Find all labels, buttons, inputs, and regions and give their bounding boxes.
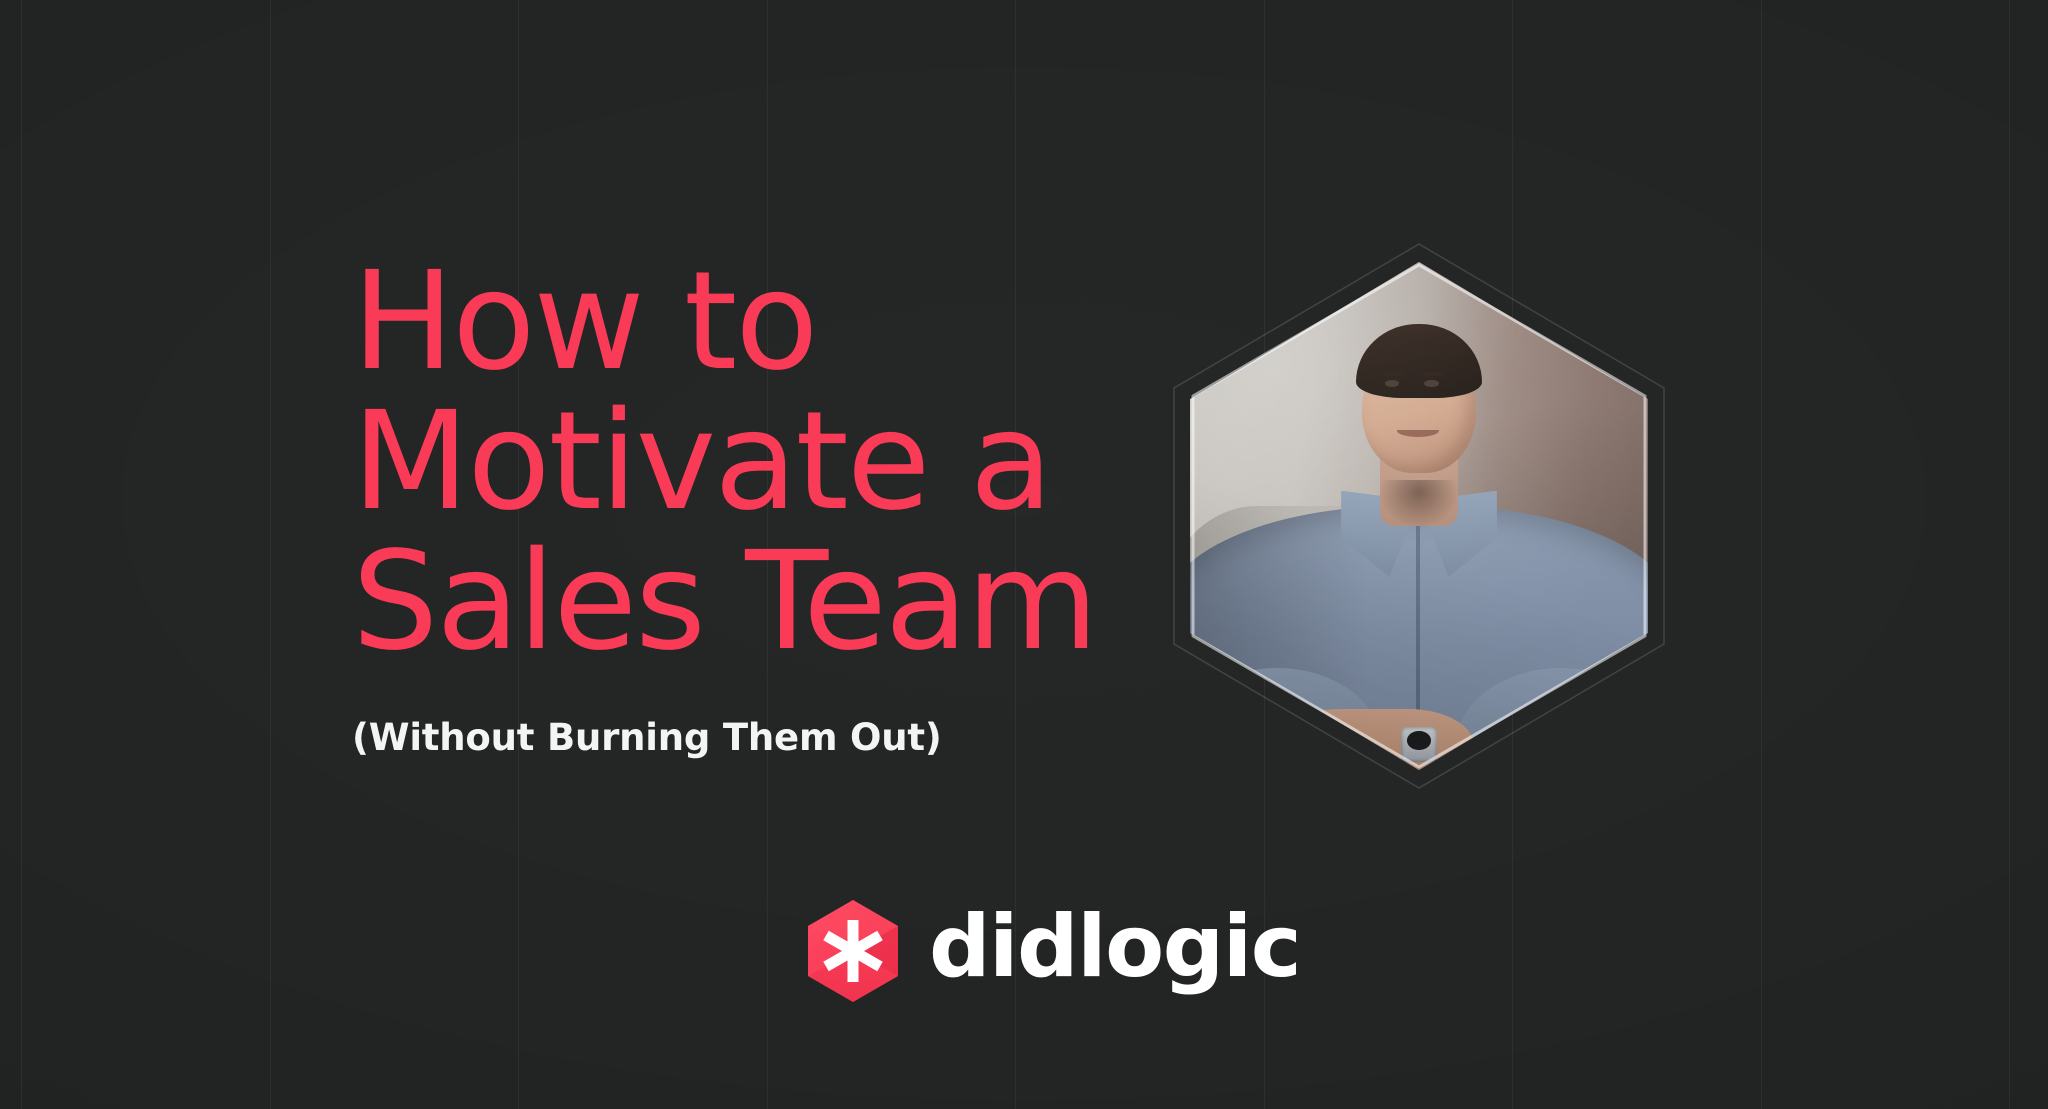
share-card-canvas: How to Motivate a Sales Team (Without Bu… — [0, 0, 2048, 1109]
portrait-hexagon — [1190, 262, 1648, 770]
grid-line — [270, 0, 271, 1109]
grid-line — [21, 0, 22, 1109]
grid-line — [1761, 0, 1762, 1109]
page-title: How to Motivate a Sales Team — [352, 252, 1112, 672]
didlogic-logo[interactable]: didlogic — [805, 898, 1300, 1004]
hexagon-asterisk-icon — [805, 898, 901, 1004]
text-block: How to Motivate a Sales Team (Without Bu… — [352, 252, 1112, 761]
page-subtitle: (Without Burning Them Out) — [352, 672, 1112, 760]
didlogic-wordmark: didlogic — [929, 904, 1300, 998]
grid-line — [2009, 0, 2010, 1109]
